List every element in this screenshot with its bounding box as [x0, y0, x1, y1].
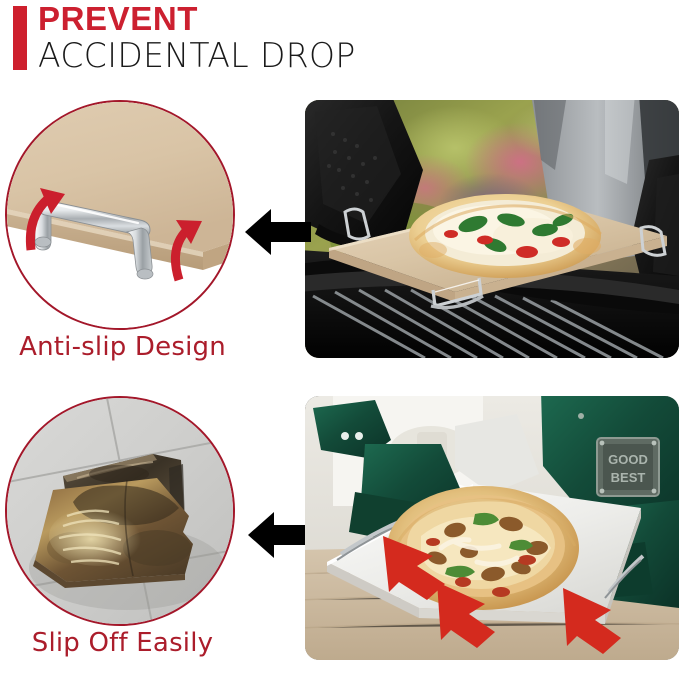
connector-arrow-left-top-icon	[245, 205, 311, 259]
svg-text:BEST: BEST	[611, 470, 646, 485]
slipping-pizza-photo: GOOD BEST	[305, 396, 679, 660]
slip-off-illustration-circle	[5, 396, 235, 626]
burnt-pizza-stone	[33, 478, 193, 588]
svg-text:GOOD: GOOD	[608, 452, 648, 467]
slipping-pizza-scene: GOOD BEST	[305, 396, 679, 660]
apron-name-plate: GOOD BEST	[597, 438, 659, 496]
anti-slip-illustration	[7, 102, 233, 328]
header-banner: PREVENT ACCIDENTAL DROP	[0, 0, 679, 92]
headline-secondary: ACCIDENTAL DROP	[38, 36, 356, 76]
panel-slipping-pizza-photo: GOOD BEST	[305, 396, 679, 660]
slip-off-illustration	[7, 398, 233, 624]
anti-slip-illustration-circle	[5, 100, 235, 330]
grill-pizza-scene	[305, 100, 679, 358]
header-accent-bar	[13, 6, 27, 70]
grill-pizza-photo	[305, 100, 679, 358]
headline-primary: PREVENT	[38, 1, 198, 37]
panel-grill-pizza-photo	[305, 100, 679, 358]
caption-anti-slip-design: Anti-slip Design	[0, 332, 245, 362]
caption-slip-off-easily: Slip Off Easily	[0, 628, 245, 658]
margherita-pizza	[409, 194, 601, 278]
